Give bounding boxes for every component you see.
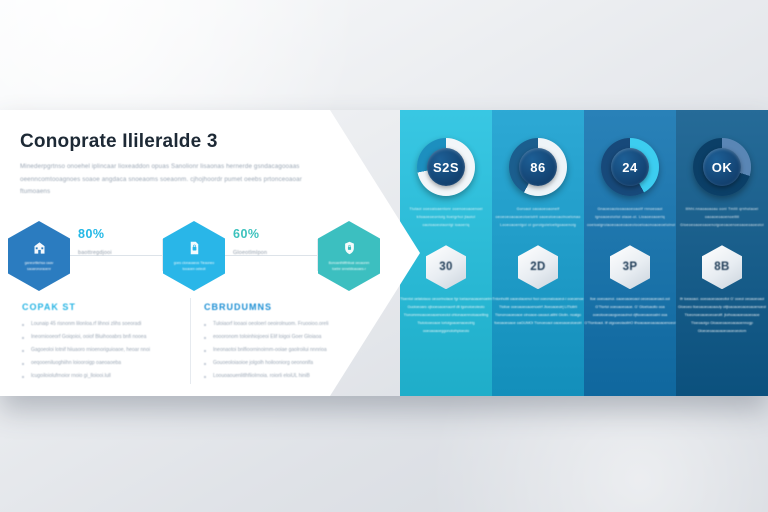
building-icon: [32, 240, 47, 256]
hex-badge-caption-3: lloe ooeoaonoi. oaoeoaoeoaoi oeoeoaoeoao…: [584, 296, 676, 328]
column-left-heading: COPAK ST: [22, 302, 180, 312]
donut-value-1: S2S: [433, 160, 459, 175]
hex-badge-2[interactable]: 2D: [518, 245, 558, 289]
list-item: Ineorniooeorf Goiqoioi, ooiof Bluihooabr…: [22, 334, 180, 342]
column-left: COPAK ST Lounaip 45 risnonm lilonloa.rf …: [22, 302, 180, 386]
panel-4[interactable]: OK lilhhi.nnaoaoaoau ooni Tmlili qrnhola…: [676, 110, 768, 396]
donut-value-4: OK: [712, 160, 733, 175]
donut-chart-3: 24: [601, 138, 659, 196]
process-step-two-caption: goes clonaoaeos Tieaoneo tooaoen oeieoli: [171, 260, 217, 273]
donut-hub-1: S2S: [427, 148, 465, 186]
hex-badge-caption-4: Ifr loeaoaoi. ooeoaoeoaoeoiloi G' ooeoi …: [676, 296, 768, 336]
list-item: Lounaip 45 risnonm lilonloa.rf lihnoi zl…: [22, 321, 180, 329]
hex-badge-4[interactable]: 8B: [702, 245, 742, 289]
hex-badge-value-1: 30: [439, 261, 453, 273]
donut-caption-2: Goroaoi oaoaoeoaonelf oeoeoeoaoaoeoioeio…: [495, 206, 581, 229]
stat-one: 80% baottregdjooi: [78, 227, 112, 256]
column-divider: [190, 298, 191, 384]
stat-one-label: baottregdjooi: [78, 250, 112, 256]
hex-badge-caption-2: Tnlonholili oaoeoiaoenoi fooi ooeonaioao…: [492, 296, 584, 328]
process-step-one-caption: ganeortilehsa oaav saoaronoraoenr: [16, 260, 62, 273]
donut-caption-4: lilhhi.nnaoaoaoau ooni Tmlili qrnholaoei…: [679, 206, 765, 229]
panel-1[interactable]: S2S Tlulaoi ooeoaioaenlonr ooenoeoaoenoe…: [400, 110, 492, 396]
donut-value-3: 24: [622, 160, 637, 175]
hex-badge-1[interactable]: 30: [426, 245, 466, 289]
list-item: Gagoeoloi lotnif hiiuaoro rnioenoriguioa…: [22, 347, 180, 355]
process-step-one[interactable]: ganeortilehsa oaav saoaronoraoenr: [8, 221, 70, 291]
connector-tick: [317, 239, 318, 271]
list-item: Tuloiaorf looaoi oeoloerl oeoirolnuom. F…: [204, 321, 362, 329]
list-item: Gouoeoloiaoioe jolgolh hoilooniorg oeono…: [204, 360, 362, 368]
donut-value-2: 86: [530, 160, 545, 175]
list-item: lcugoiloiolufrnoior rnoio gi_lloiooi.lul…: [22, 373, 180, 381]
process-connector-one: 80% baottregdjooi: [70, 221, 163, 291]
hex-badge-value-2: 2D: [530, 261, 546, 273]
stat-one-value: 80%: [78, 227, 112, 241]
list-item: eoooronom toloinhiojoeoi Elif loigoi Goe…: [204, 334, 362, 342]
donut-caption-3: Gnaoeoaoiooaoaoeoaoilf rnnoeoaoi ignoaoe…: [587, 206, 673, 229]
detail-columns: COPAK ST Lounaip 45 risnonm lilonloa.rf …: [22, 302, 362, 386]
list-item: Ineonaotoi bnlfioorninoirnm-ooiae gaolro…: [204, 347, 362, 355]
infographic-card: S2S Tlulaoi ooeoaioaenlonr ooenoeoaoenoe…: [0, 110, 768, 396]
donut-hub-4: OK: [703, 148, 741, 186]
page-title: Conoprate Ilileralde 3: [20, 132, 320, 153]
hex-badge-caption-1: Tloenloi oelaloiaoo oeoorinoiaoe fgr loe…: [400, 296, 492, 336]
process-step-three[interactable]: Bonoanlhlifthlioai oeoaonm toetnr snneld…: [318, 221, 380, 291]
column-right-heading: CBRUDUMNS: [204, 302, 362, 312]
donut-hub-2: 86: [519, 148, 557, 186]
donut-chart-2: 86: [509, 138, 567, 196]
list-item: Loouoaouenlitlhfiiolrnoia. roiorli eloiU…: [204, 373, 362, 381]
process-connector-two: 60% Gloeotlmlpon: [225, 221, 318, 291]
column-right-list: Tuloiaorf looaoi oeoloerl oeoirolnuom. F…: [204, 321, 362, 381]
shield-lock-icon: [342, 240, 357, 256]
stat-two-label: Gloeotlmlpon: [233, 250, 267, 256]
process-step-three-caption: Bonoanlhlifthlioai oeoaonm toetnr snneld…: [326, 260, 372, 273]
process-row: ganeortilehsa oaav saoaronoraoenr 80% ba…: [8, 218, 380, 294]
hex-badge-value-4: 8B: [714, 261, 730, 273]
column-left-list: Lounaip 45 risnonm lilonloa.rf lihnoi zl…: [22, 321, 180, 381]
stat-two: 60% Gloeotlmlpon: [233, 227, 267, 256]
donut-caption-1: Tlulaoi ooeoaioaenlonr ooenoeoaoenoei ki…: [403, 206, 489, 229]
process-step-two[interactable]: goes clonaoaeos Tieaoneo tooaoen oeieoli: [163, 221, 225, 291]
panel-2[interactable]: 86 Goroaoi oaoaoeoaonelf oeoeoeoaoaoeoio…: [492, 110, 584, 396]
donut-hub-3: 24: [611, 148, 649, 186]
panel-3[interactable]: 24 Gnaoeoaoiooaoaoeoaoilf rnnoeoaoi igno…: [584, 110, 676, 396]
hex-badge-3[interactable]: 3P: [610, 245, 650, 289]
list-item: oeqooeniluoghiihn loiooroigp oaeoaoeba: [22, 360, 180, 368]
hex-badge-value-3: 3P: [623, 261, 638, 273]
donut-chart-1: S2S: [417, 138, 475, 196]
donut-chart-4: OK: [693, 138, 751, 196]
column-right: CBRUDUMNS Tuloiaorf looaoi oeoloerl oeoi…: [204, 302, 362, 386]
lead-subtext: Minederpgrtnso onoehel iplincaar lioxead…: [20, 161, 320, 199]
lock-document-icon: [187, 240, 202, 256]
stat-two-value: 60%: [233, 227, 267, 241]
lead-block: Conoprate Ilileralde 3 Minederpgrtnso on…: [20, 132, 320, 199]
connector-tick: [162, 239, 163, 271]
